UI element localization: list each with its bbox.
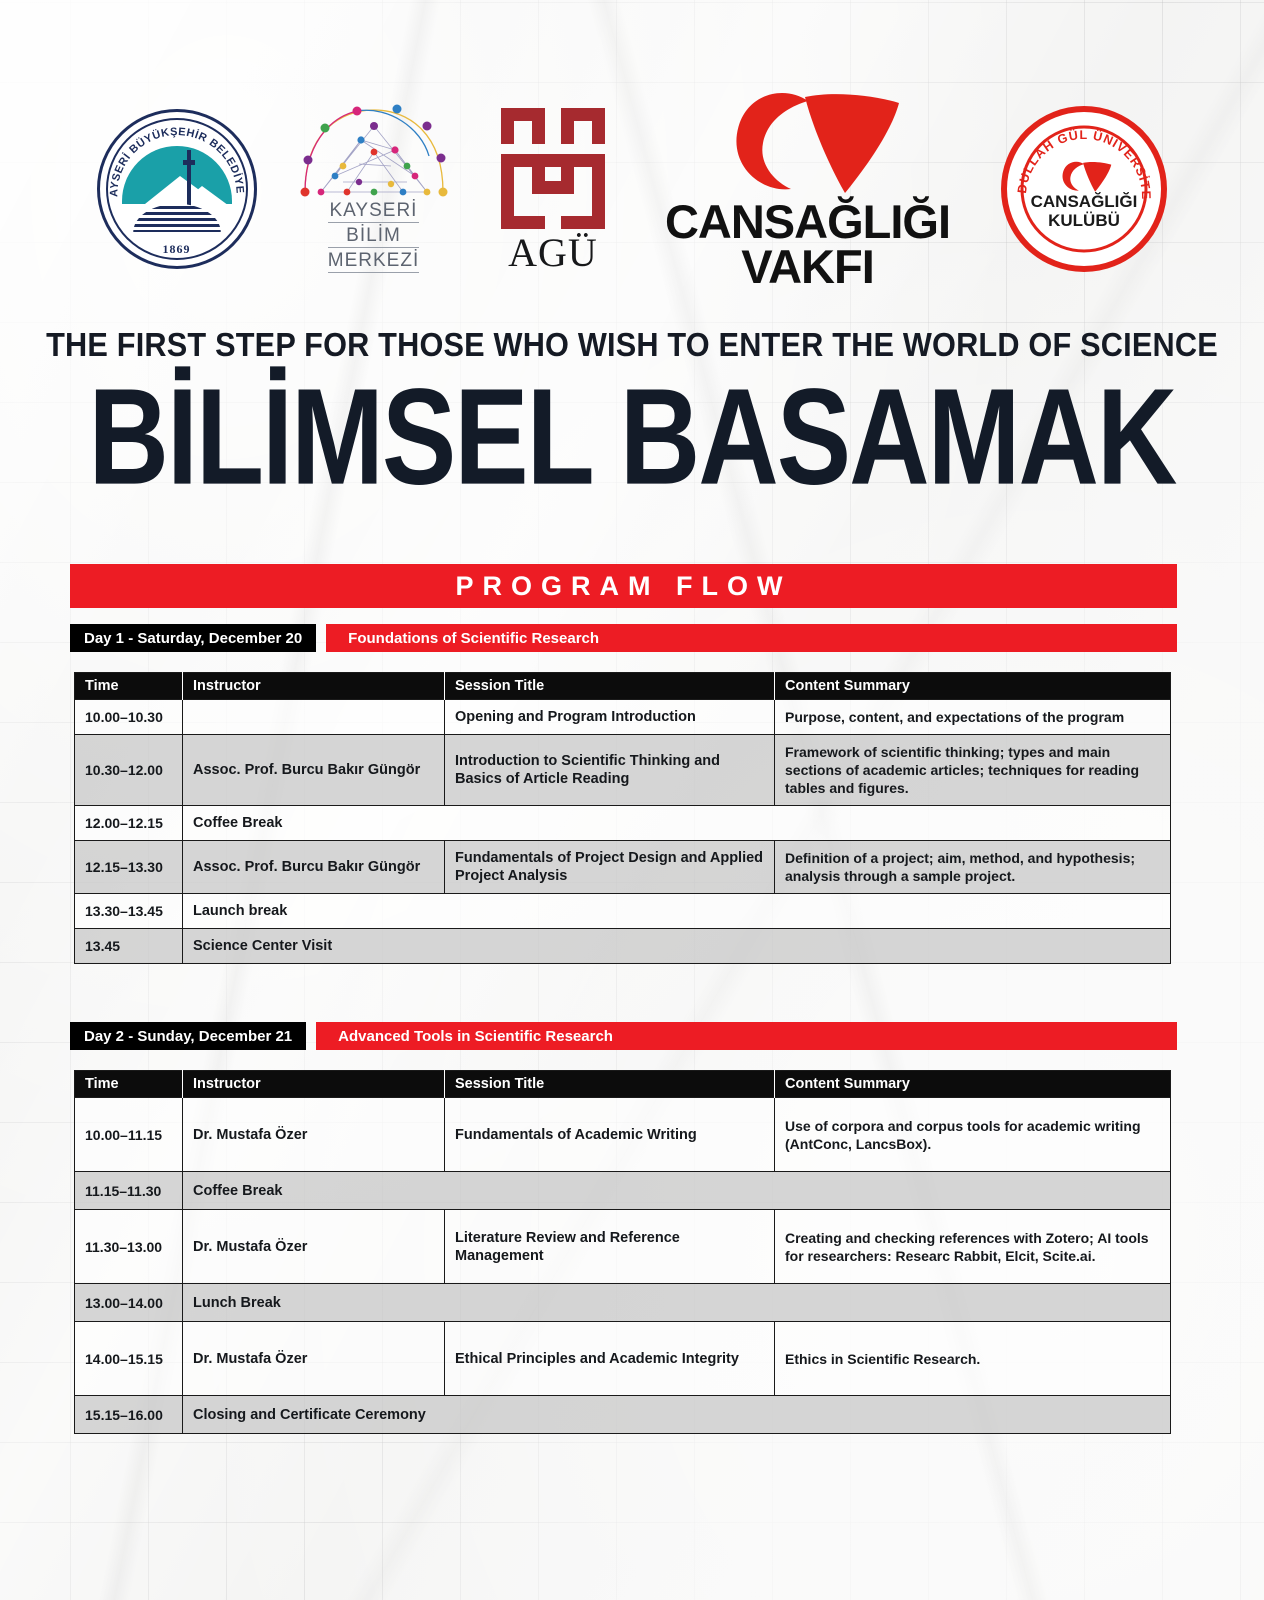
table-row: 10.00–11.15 Dr. Mustafa Özer Fundamental… <box>75 1098 1171 1172</box>
col-header-session: Session Title <box>445 1071 775 1098</box>
table-row: 13.45 Science Center Visit <box>75 929 1171 964</box>
table-row: 13.30–13.45 Launch break <box>75 894 1171 929</box>
program-flow-banner: PROGRAM FLOW <box>70 564 1177 608</box>
col-header-session: Session Title <box>445 673 775 700</box>
cell-content: Framework of scientific thinking; types … <box>775 735 1171 806</box>
table-row: 15.15–16.00 Closing and Certificate Cere… <box>75 1396 1171 1434</box>
cell-span-label: Coffee Break <box>183 806 1171 841</box>
poster-headline: BİLİMSEL BASAMAK <box>25 368 1238 505</box>
day-1-theme: Foundations of Scientific Research <box>326 624 1177 652</box>
cell-content: Creating and checking references with Zo… <box>775 1210 1171 1284</box>
day-1-chip: Day 1 - Saturday, December 20 <box>70 624 316 652</box>
day-2-chip: Day 2 - Sunday, December 21 <box>70 1022 306 1050</box>
col-header-time: Time <box>75 673 183 700</box>
seal-arc-text: KAYSERİ BÜYÜKŞEHİR BELEDİYESİ <box>100 112 246 197</box>
agu-logo: AGÜ <box>491 106 616 273</box>
club-line-1: CANSAĞLIĞI <box>1030 192 1137 211</box>
kayseri-bilim-merkezi-logo: KAYSERİ BİLİM MERKEZİ <box>299 104 449 275</box>
cell-content: Definition of a project; aim, method, an… <box>775 841 1171 894</box>
cell-instructor <box>183 700 445 735</box>
cell-instructor: Assoc. Prof. Burcu Bakır Güngör <box>183 735 445 806</box>
day-1-header: Day 1 - Saturday, December 20 Foundation… <box>70 624 1177 652</box>
cansagligi-vakfi-line-2: VAKFI <box>741 244 874 290</box>
col-header-instructor: Instructor <box>183 1071 445 1098</box>
poster-page: KAYSERİ BÜYÜKŞEHİR BELEDİYESİ 1869 <box>0 0 1264 1600</box>
cell-span-label: Launch break <box>183 894 1171 929</box>
day-2-header: Day 2 - Sunday, December 21 Advanced Too… <box>70 1022 1177 1050</box>
sponsor-logo-strip: KAYSERİ BÜYÜKŞEHİR BELEDİYESİ 1869 <box>0 84 1264 294</box>
kbm-line-3: MERKEZİ <box>328 250 419 273</box>
cell-session: Opening and Program Introduction <box>445 700 775 735</box>
cell-time: 10.00–11.15 <box>75 1098 183 1172</box>
table-row: 11.30–13.00 Dr. Mustafa Özer Literature … <box>75 1210 1171 1284</box>
table-row: 10.30–12.00 Assoc. Prof. Burcu Bakır Gün… <box>75 735 1171 806</box>
table-row: 12.15–13.30 Assoc. Prof. Burcu Bakır Gün… <box>75 841 1171 894</box>
kbm-line-1: KAYSERİ <box>328 200 419 223</box>
cell-content: Ethics in Scientific Research. <box>775 1322 1171 1396</box>
cell-session: Introduction to Scientific Thinking and … <box>445 735 775 806</box>
day-2-schedule-table: Time Instructor Session Title Content Su… <box>74 1070 1171 1434</box>
cansagligi-mark-icon <box>713 89 903 199</box>
col-header-content: Content Summary <box>775 1071 1171 1098</box>
cell-time: 10.00–10.30 <box>75 700 183 735</box>
cell-instructor: Dr. Mustafa Özer <box>183 1098 445 1172</box>
kbm-line-2: BİLİM <box>328 225 419 248</box>
cansagligi-vakfi-line-1: CANSAĞLIĞI <box>665 200 950 244</box>
table-row: 14.00–15.15 Dr. Mustafa Özer Ethical Pri… <box>75 1322 1171 1396</box>
cell-instructor: Assoc. Prof. Burcu Bakır Güngör <box>183 841 445 894</box>
cell-time: 11.15–11.30 <box>75 1172 183 1210</box>
cell-time: 11.30–13.00 <box>75 1210 183 1284</box>
table-row: 12.00–12.15 Coffee Break <box>75 806 1171 841</box>
cell-time: 13.00–14.00 <box>75 1284 183 1322</box>
cell-span-label: Lunch Break <box>183 1284 1171 1322</box>
cell-span-label: Coffee Break <box>183 1172 1171 1210</box>
cell-content: Purpose, content, and expectations of th… <box>775 700 1171 735</box>
cell-time: 15.15–16.00 <box>75 1396 183 1434</box>
cell-time: 13.45 <box>75 929 183 964</box>
seal-year-text: 1869 <box>100 242 254 257</box>
day-2-theme: Advanced Tools in Scientific Research <box>316 1022 1177 1050</box>
table-header-row: Time Instructor Session Title Content Su… <box>75 673 1171 700</box>
table-row: 13.00–14.00 Lunch Break <box>75 1284 1171 1322</box>
day-1-schedule-table: Time Instructor Session Title Content Su… <box>74 672 1171 964</box>
cell-session: Ethical Principles and Academic Integrit… <box>445 1322 775 1396</box>
table-row: 11.15–11.30 Coffee Break <box>75 1172 1171 1210</box>
cell-session: Literature Review and Reference Manageme… <box>445 1210 775 1284</box>
cell-instructor: Dr. Mustafa Özer <box>183 1322 445 1396</box>
svg-text:KAYSERİ BÜYÜKŞEHİR BELEDİYESİ: KAYSERİ BÜYÜKŞEHİR BELEDİYESİ <box>100 112 246 197</box>
agu-wordmark: AGÜ <box>508 233 598 273</box>
cell-session: Fundamentals of Project Design and Appli… <box>445 841 775 894</box>
cansagligi-vakfi-logo: CANSAĞLIĞI VAKFI <box>658 89 958 290</box>
agu-monogram-icon <box>499 106 607 231</box>
club-line-2: KULÜBÜ <box>1048 211 1120 230</box>
cell-time: 12.00–12.15 <box>75 806 183 841</box>
col-header-instructor: Instructor <box>183 673 445 700</box>
cell-time: 10.30–12.00 <box>75 735 183 806</box>
cell-span-label: Closing and Certificate Ceremony <box>183 1396 1171 1434</box>
agu-cansagligi-kulubu-logo: ABDULLAH GÜL ÜNİVERSİTESİ CANSAĞLIĞI KUL… <box>1000 105 1168 273</box>
cell-time: 12.15–13.30 <box>75 841 183 894</box>
col-header-content: Content Summary <box>775 673 1171 700</box>
network-graphic-icon <box>299 104 449 200</box>
cell-time: 13.30–13.45 <box>75 894 183 929</box>
table-header-row: Time Instructor Session Title Content Su… <box>75 1071 1171 1098</box>
cell-content: Use of corpora and corpus tools for acad… <box>775 1098 1171 1172</box>
cell-span-label: Science Center Visit <box>183 929 1171 964</box>
cell-instructor: Dr. Mustafa Özer <box>183 1210 445 1284</box>
table-row: 10.00–10.30 Opening and Program Introduc… <box>75 700 1171 735</box>
cell-session: Fundamentals of Academic Writing <box>445 1098 775 1172</box>
cell-time: 14.00–15.15 <box>75 1322 183 1396</box>
kayseri-buyuksehir-belediyesi-logo: KAYSERİ BÜYÜKŞEHİR BELEDİYESİ 1869 <box>97 109 257 269</box>
col-header-time: Time <box>75 1071 183 1098</box>
poster-kicker: THE FIRST STEP FOR THOSE WHO WISH TO ENT… <box>44 326 1220 364</box>
